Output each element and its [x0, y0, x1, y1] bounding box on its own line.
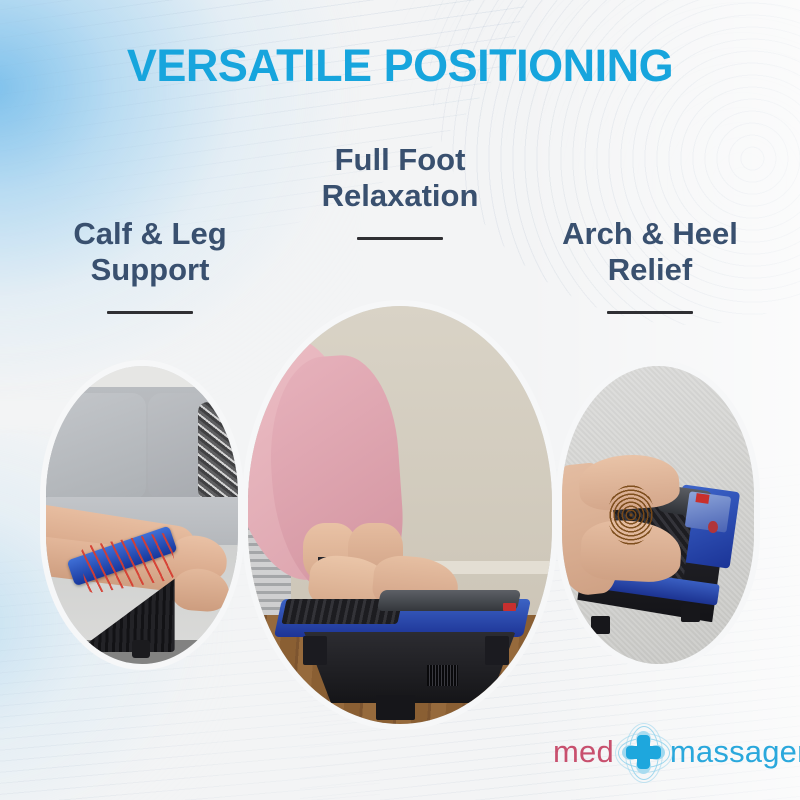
massager-vent-grille — [427, 665, 457, 686]
massager-foot-right — [681, 604, 700, 622]
photo-scene-calf-leg-support — [46, 366, 238, 664]
brand-logo: med massager — [553, 726, 778, 778]
page-title: VERSATILE POSITIONING — [0, 43, 800, 88]
massager-foot-left — [71, 640, 88, 661]
infographic-canvas: VERSATILE POSITIONING Calf & Leg Support… — [0, 0, 800, 800]
sofa-cushion-left — [46, 393, 146, 500]
heading-divider-rule — [607, 311, 693, 314]
massager-brand-label — [696, 493, 711, 504]
cross-horizontal-bar — [626, 746, 661, 759]
column-heading-full-foot-relaxation: Full Foot Relaxation — [270, 142, 530, 240]
massager-foot-front — [376, 695, 416, 720]
massager-foot-left — [303, 636, 327, 665]
logo-word-massager: massager — [670, 734, 800, 770]
column-heading-line2: Relaxation — [270, 178, 530, 214]
heading-divider-rule — [357, 237, 443, 240]
photo-panel-arch-heel-relief — [562, 366, 754, 664]
heading-divider-rule — [107, 311, 193, 314]
massager-foot-left — [591, 616, 610, 634]
column-heading-arch-heel-relief: Arch & Heel Relief — [520, 216, 780, 314]
massager-roller-bar — [376, 590, 520, 611]
massager-power-knob — [708, 521, 718, 533]
photo-panel-full-foot-relaxation — [248, 306, 552, 724]
throw-pillow — [198, 402, 238, 500]
medical-cross-vibration-icon — [617, 727, 669, 777]
column-heading-line2: Relief — [520, 252, 780, 288]
column-heading-line2: Support — [20, 252, 280, 288]
massager-foot-right — [485, 636, 509, 665]
photo-scene-arch-heel-relief — [562, 366, 754, 664]
photo-panel-calf-leg-support — [46, 366, 238, 664]
massager-indicator-light — [503, 603, 515, 611]
column-heading-line1: Calf & Leg — [20, 216, 280, 252]
massager-foot-right — [132, 640, 149, 658]
ripple-rings-graphic — [608, 485, 654, 545]
photo-scene-full-foot-relaxation — [248, 306, 552, 724]
column-heading-calf-leg-support: Calf & Leg Support — [20, 216, 280, 314]
column-heading-line1: Full Foot — [270, 142, 530, 178]
logo-word-med: med — [553, 734, 614, 770]
column-heading-line1: Arch & Heel — [520, 216, 780, 252]
